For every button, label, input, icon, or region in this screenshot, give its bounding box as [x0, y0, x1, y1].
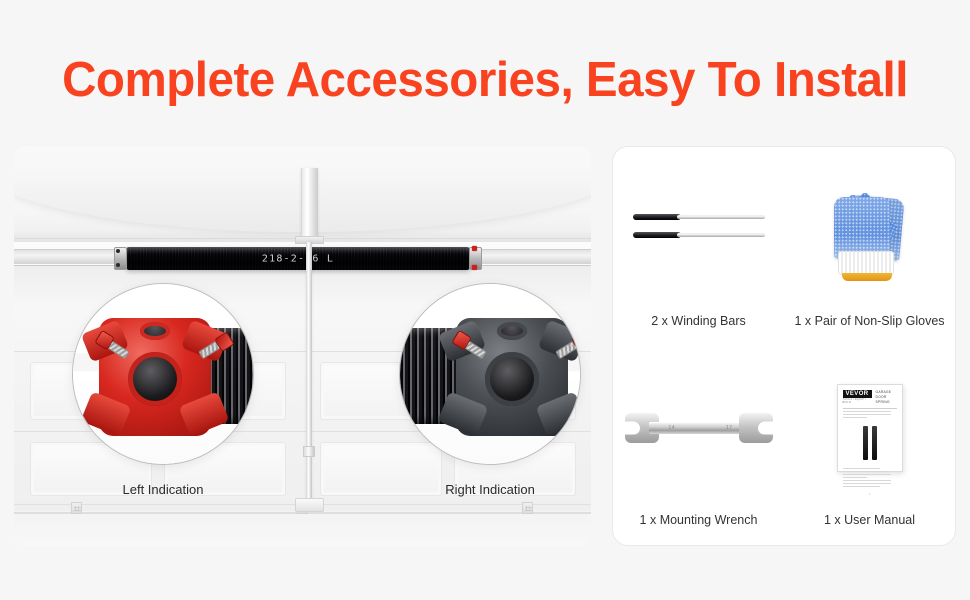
winding-cone-black: [456, 318, 568, 436]
manual-text-line: [843, 486, 881, 487]
cone-top-bore: [140, 322, 170, 340]
post-base-plate: [295, 498, 324, 512]
accessory-label: 1 x User Manual: [824, 513, 915, 527]
spring-cone-right: [467, 244, 484, 273]
manual-text-line: [843, 483, 892, 484]
manual-text-line: [843, 414, 892, 415]
door-hinge: [71, 502, 82, 514]
cone-bolt-icon: [116, 249, 120, 253]
left-winding-cone-art: [73, 284, 253, 464]
accessory-item-winding-bars: 2 x Winding Bars: [613, 147, 784, 346]
accessory-label: 1 x Mounting Wrench: [640, 513, 758, 527]
vevor-logo: VEVOR: [843, 390, 872, 398]
spring-cone-left: [112, 244, 129, 273]
wrench-shaft: [649, 422, 749, 434]
wrench-size-mark: 17: [726, 425, 733, 431]
right-winding-cone-art: [400, 284, 580, 464]
cone-arm: [536, 391, 581, 436]
manual-text-line: [843, 417, 867, 418]
manual-text-line: [843, 411, 892, 412]
bar-shaft: [677, 233, 765, 237]
wrench-size-mark: 14: [669, 425, 676, 431]
spring-coil-body: 218-2-26 L: [126, 247, 470, 270]
callout-circle-right: [399, 283, 581, 465]
manual-page-number: 1: [843, 492, 897, 496]
glove-cuff-band: [842, 273, 892, 281]
manual-text-line: [843, 468, 881, 469]
accessory-label: 1 x Pair of Non-Slip Gloves: [794, 314, 944, 328]
accessories-grid: 2 x Winding Bars 1 x Pair of Non-Slip Gl…: [613, 147, 955, 545]
spring-diagram: [863, 426, 868, 460]
manual-text-line: [843, 480, 892, 481]
callout-caption-left: Left Indication: [53, 482, 273, 497]
winding-bar: [633, 232, 765, 238]
wrench-icon: 14 17: [625, 409, 773, 447]
garage-door-scene: 218-2-26 L: [14, 146, 591, 546]
manual-text-line: [843, 477, 867, 478]
accessory-item-manual: VEVOR TOOLS I EQUIP I BUILD GARAGE DOOR …: [784, 346, 955, 545]
cone-arm: [81, 391, 132, 436]
bar-shaft: [677, 215, 765, 219]
cone-shaft-bore: [128, 352, 182, 406]
cone-bolt-icon: [116, 263, 120, 267]
door-hinge: [522, 502, 533, 514]
cone-top-bore: [497, 322, 527, 340]
wrench-open-end-right: [739, 413, 773, 443]
cone-bolt-icon: [472, 265, 477, 270]
accessory-label: 2 x Winding Bars: [651, 314, 745, 328]
winding-bars-icon: [633, 212, 765, 246]
manual-text-line: [843, 471, 892, 472]
manual-icon: VEVOR TOOLS I EQUIP I BUILD GARAGE DOOR …: [837, 384, 903, 472]
callout-caption-right: Right Indication: [380, 482, 591, 497]
product-photo-panel: 218-2-26 L: [14, 146, 591, 546]
accessory-item-gloves: 1 x Pair of Non-Slip Gloves: [784, 147, 955, 346]
winding-bar: [633, 214, 765, 220]
cone-bolt-icon: [472, 246, 477, 251]
manual-body-text: [843, 468, 897, 487]
manual-figure: [843, 426, 897, 460]
winding-cone-red: [99, 318, 211, 436]
spring-size-label: 218-2-26 L: [262, 253, 334, 264]
post-collar: [303, 446, 315, 457]
accessory-item-wrench: 14 17 1 x Mounting Wrench: [613, 346, 784, 545]
manual-title: GARAGE DOOR SPRING: [876, 390, 897, 405]
accessory-art: 14 17: [613, 346, 784, 509]
glove-cuff: [838, 251, 894, 275]
cone-shaft-bore: [485, 352, 539, 406]
page-title: Complete Accessories, Easy To Install: [15, 50, 956, 110]
accessories-panel: 2 x Winding Bars 1 x Pair of Non-Slip Gl…: [612, 146, 956, 546]
floor: [14, 511, 591, 546]
bar-grip: [633, 232, 681, 238]
spring-diagram: [872, 426, 877, 460]
accessory-art: VEVOR TOOLS I EQUIP I BUILD GARAGE DOOR …: [784, 346, 955, 509]
manual-text-line: [843, 474, 892, 475]
vevor-tagline: TOOLS I EQUIP I BUILD: [843, 398, 872, 404]
center-bracket: [301, 168, 318, 238]
torsion-spring: 218-2-26 L: [112, 244, 484, 272]
gloves-icon: [832, 177, 908, 281]
callout-circle-left: [72, 283, 254, 465]
glove-front: [834, 197, 890, 259]
accessory-art: [784, 147, 955, 310]
manual-header: VEVOR TOOLS I EQUIP I BUILD GARAGE DOOR …: [843, 390, 897, 409]
center-support-post: [306, 242, 312, 507]
bar-grip: [633, 214, 681, 220]
accessory-art: [613, 147, 784, 310]
